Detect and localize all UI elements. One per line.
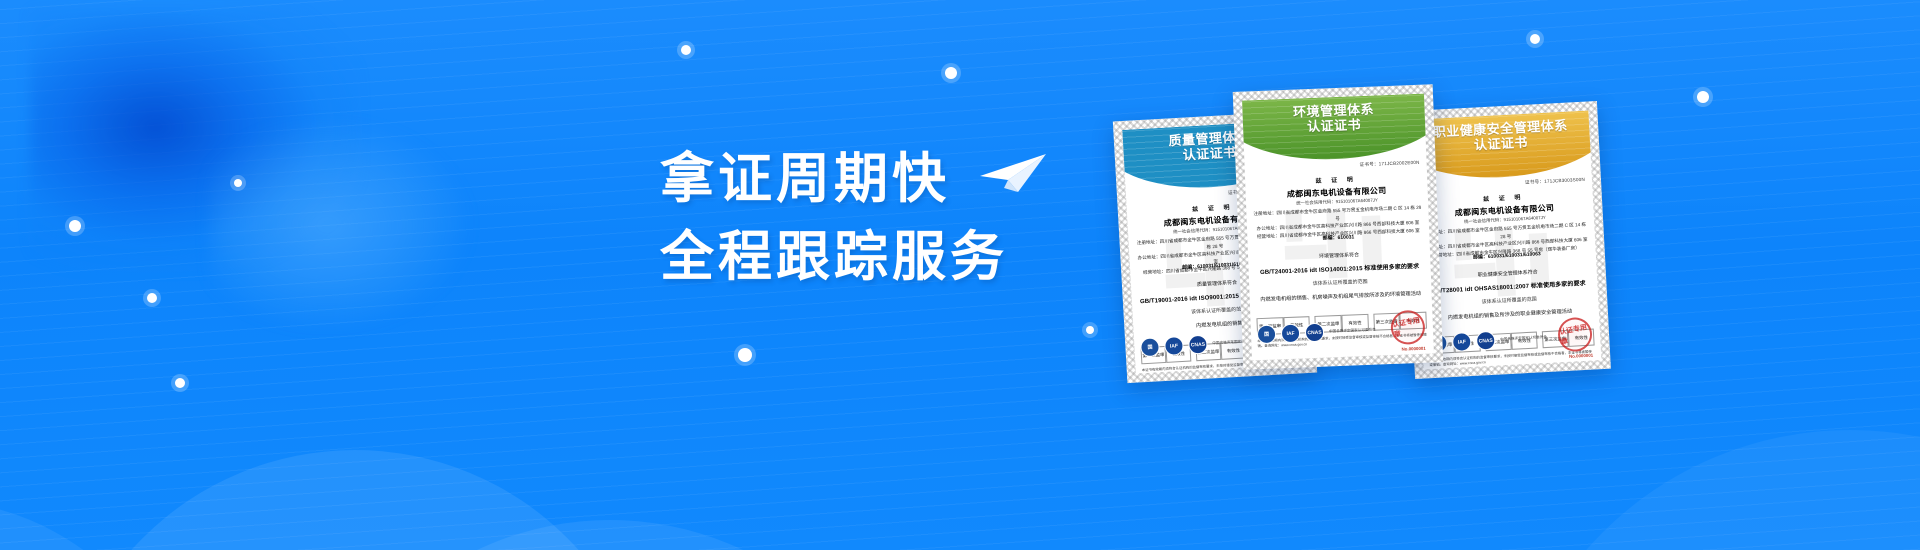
headline-block: 拿证周期快 全程跟踪服务 — [660, 140, 1080, 296]
light-blue-glow — [210, 120, 470, 330]
promo-banner: 拿证周期快 全程跟踪服务 质量管理体系 认证证书 证书号：171JCB1001Q… — [0, 0, 1920, 550]
certificate-environment[interactable]: 环境管理体系 认证证书 证书号：171JCB2002E00N 兹 证 明 成都闽… — [1233, 84, 1444, 369]
cnas-logo-icon: CNAS — [1305, 323, 1325, 343]
certificate-number: No.0000001 — [1401, 346, 1425, 352]
cnas-logo-icon: CNAS — [1476, 331, 1496, 351]
decorative-dot — [69, 220, 81, 232]
certificate-title-line1: 环境管理体系 — [1242, 99, 1434, 123]
certificate-title-line1: 职业健康安全管理体系 — [1411, 115, 1602, 142]
headline-line-2: 全程跟踪服务 — [660, 218, 1080, 296]
china-mark-icon: 国 — [1140, 337, 1160, 357]
certificate-header-banner: 环境管理体系 认证证书 — [1242, 94, 1434, 164]
iaf-logo-icon: IAF — [1281, 324, 1301, 344]
certificate-title-line2: 认证证书 — [1242, 114, 1434, 138]
certificate-group: 质量管理体系 认证证书 证书号：171JCB1001Q2K00 兹 证 明 成都… — [1120, 78, 1820, 398]
iaf-logo-icon: IAF — [1452, 332, 1472, 352]
certificate-serial: 证书号：171JCB3003S00N — [1525, 177, 1585, 186]
certificate-logo-text: 中国合格评定国家认可委员会 — [1329, 328, 1376, 335]
decorative-dot — [1086, 326, 1094, 334]
decorative-dot — [1530, 34, 1540, 44]
certificate-page: 环境管理体系 认证证书 证书号：171JCB2002E00N 兹 证 明 成都闽… — [1242, 94, 1434, 361]
cnas-logo-icon: CNAS — [1188, 335, 1208, 355]
certificate-logo-text: 中国合格评定国家认可委员会 — [1500, 335, 1547, 342]
paper-plane-icon — [978, 150, 1048, 196]
certificate-title-line2: 认证证书 — [1411, 130, 1602, 157]
decorative-dot — [738, 348, 752, 362]
certificate-red-seal: 认证专用章 — [1555, 315, 1595, 355]
decorative-dot — [234, 179, 242, 187]
iaf-logo-icon: IAF — [1164, 336, 1184, 356]
decorative-dot — [147, 293, 157, 303]
decorative-dot — [945, 67, 957, 79]
decorative-dot — [681, 45, 691, 55]
certificate-serial: 证书号：171JCB2002E00N — [1359, 160, 1419, 168]
china-mark-icon: 国 — [1257, 324, 1277, 344]
decorative-dot — [175, 378, 185, 388]
certificate-header-banner: 职业健康安全管理体系 认证证书 — [1411, 111, 1602, 184]
